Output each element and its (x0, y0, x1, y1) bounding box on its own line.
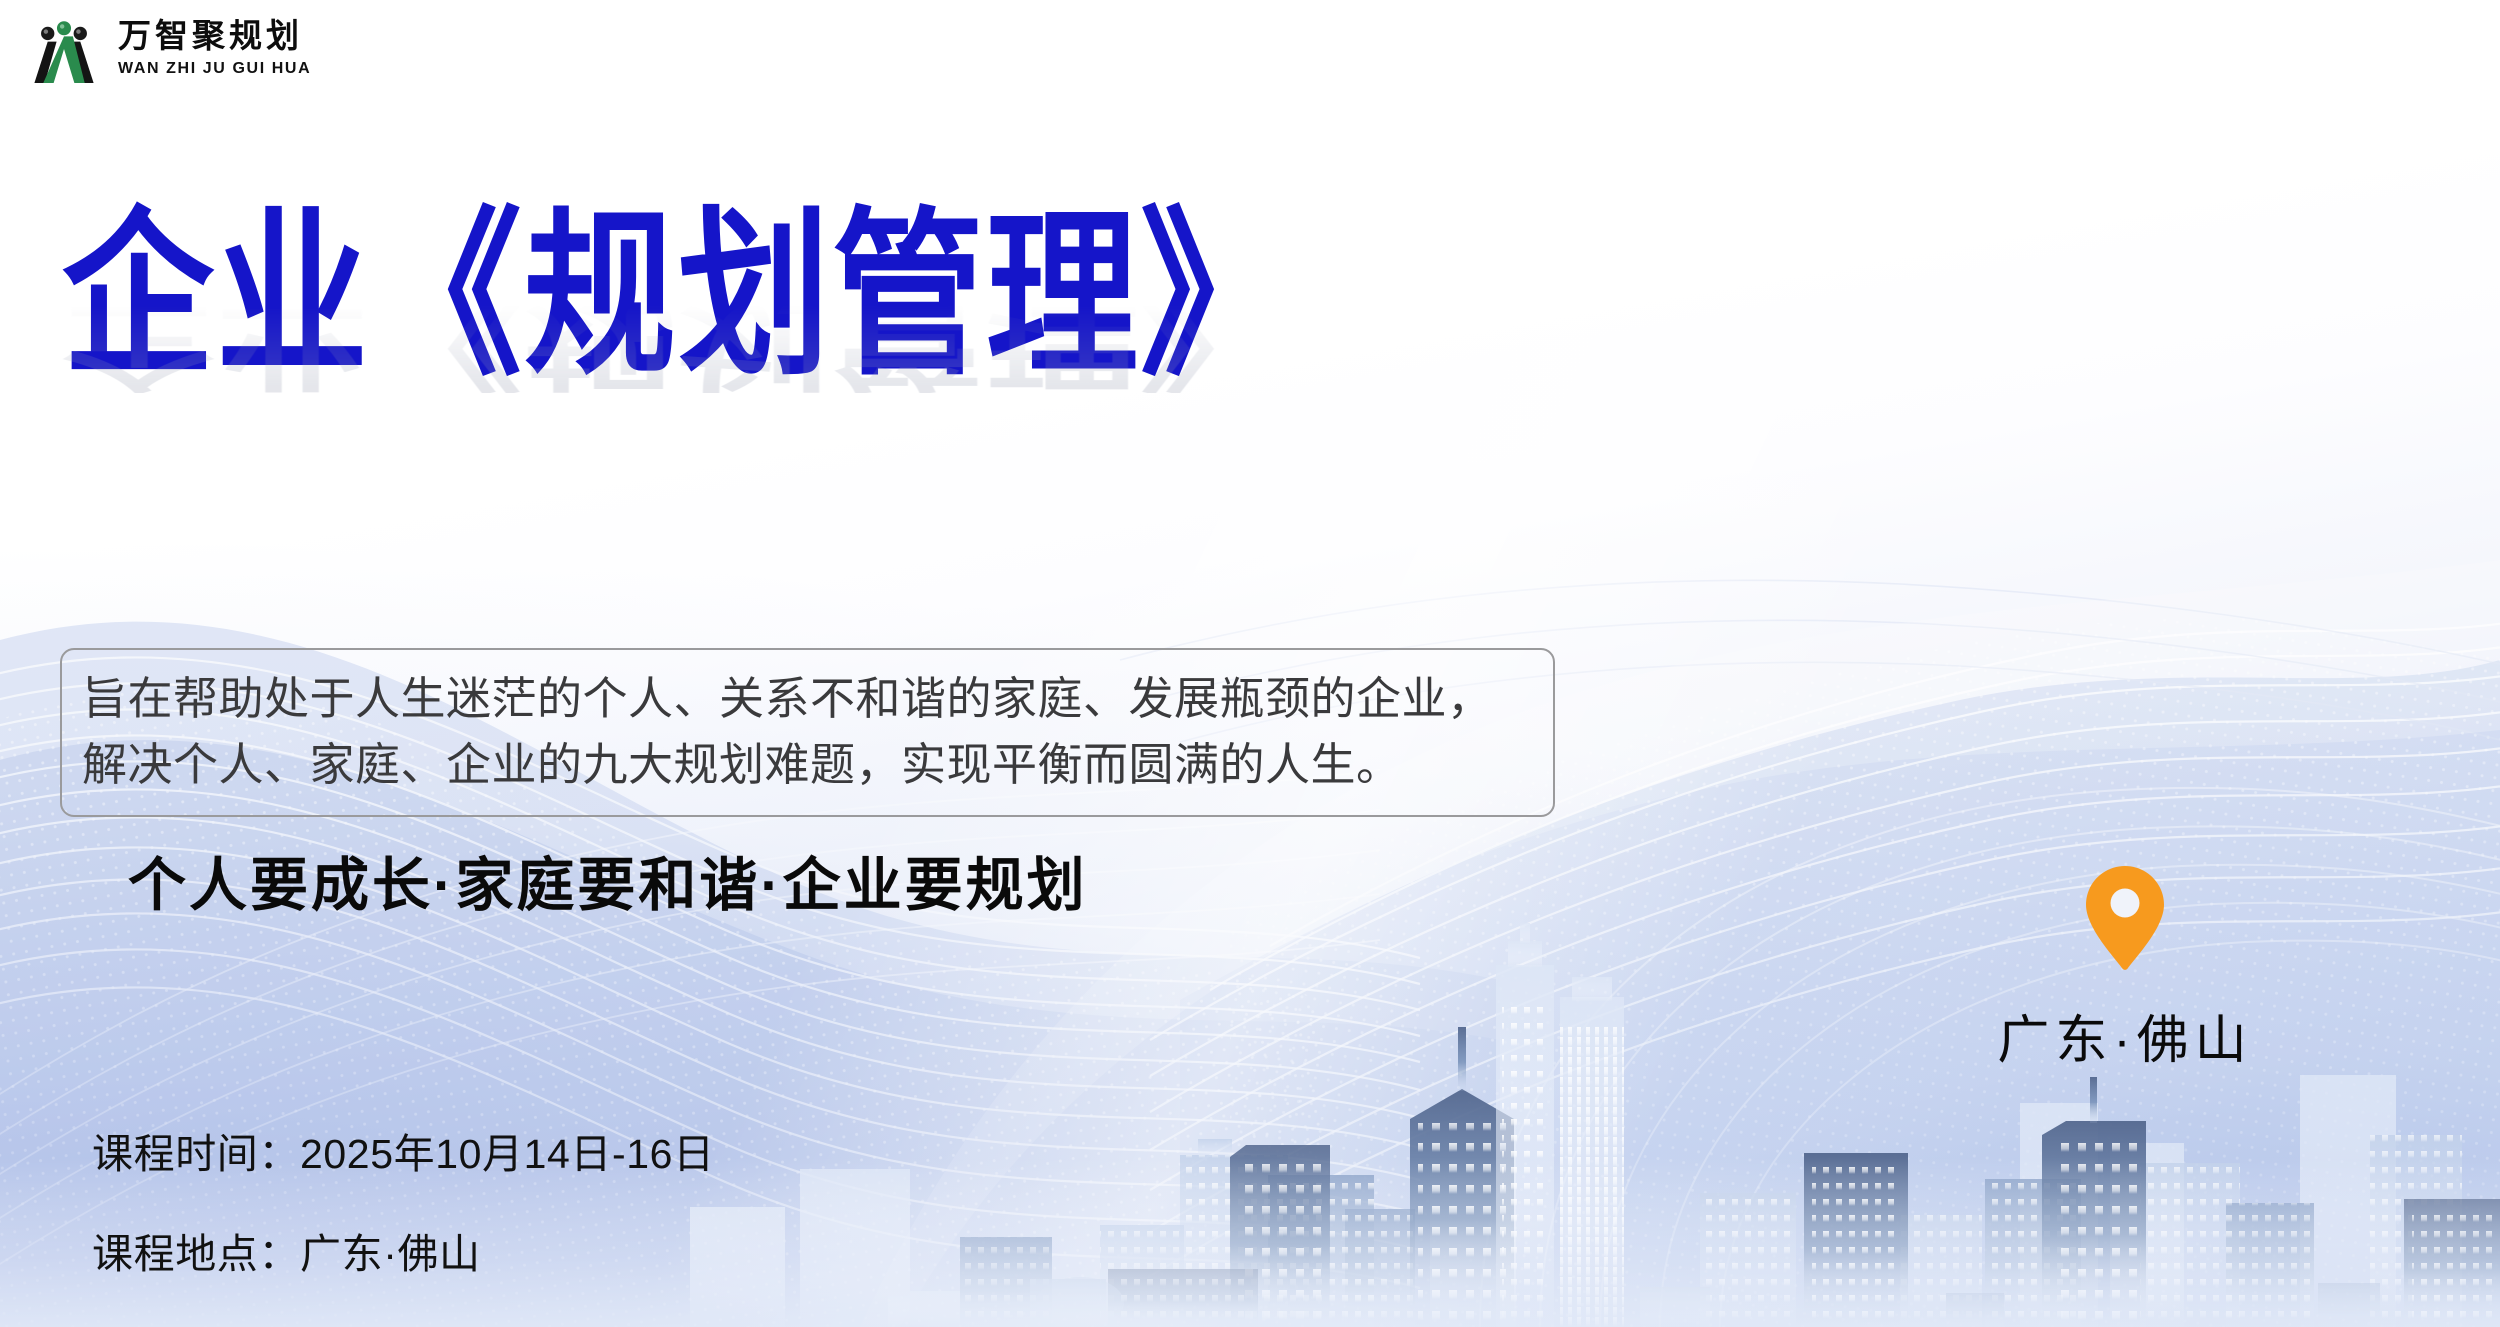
brand-name-pinyin: WAN ZHI JU GUI HUA (118, 61, 311, 77)
description-line-1: 旨在帮助处于人生迷茫的个人、关系不和谐的家庭、发展瓶颈的企业， (82, 666, 1531, 732)
course-time: 课程时间：2025年10月14日-16日 (92, 1120, 715, 1180)
location-city: 广东·佛山 (1960, 998, 2290, 1073)
description-box: 旨在帮助处于人生迷茫的个人、关系不和谐的家庭、发展瓶颈的企业， 解决个人、家庭、… (60, 648, 1555, 817)
map-pin-icon (2082, 862, 2168, 974)
brand-name-cn: 万智聚规划 (118, 21, 311, 54)
promo-banner: 万智聚规划 WAN ZHI JU GUI HUA 企业《规划管理》 企业《规划管… (0, 0, 2500, 1327)
course-info-block: 课程时间：2025年10月14日-16日 课程地点：广东·佛山 (92, 1120, 715, 1280)
description-line-2: 解决个人、家庭、企业的九大规划难题，实现平衡而圆满的人生。 (82, 732, 1531, 798)
course-place: 课程地点：广东·佛山 (92, 1220, 715, 1280)
page-title-reflection: 企业《规划管理》 (62, 297, 1294, 393)
three-people-m-logo-icon (26, 12, 102, 86)
location-block: 广东·佛山 (1960, 862, 2290, 1073)
brand-logo[interactable]: 万智聚规划 WAN ZHI JU GUI HUA (26, 12, 311, 86)
slogan-text: 个人要成长·家庭要和谐·企业要规划 (128, 838, 1088, 922)
headline-block: 企业《规划管理》 企业《规划管理》 (62, 205, 1562, 360)
